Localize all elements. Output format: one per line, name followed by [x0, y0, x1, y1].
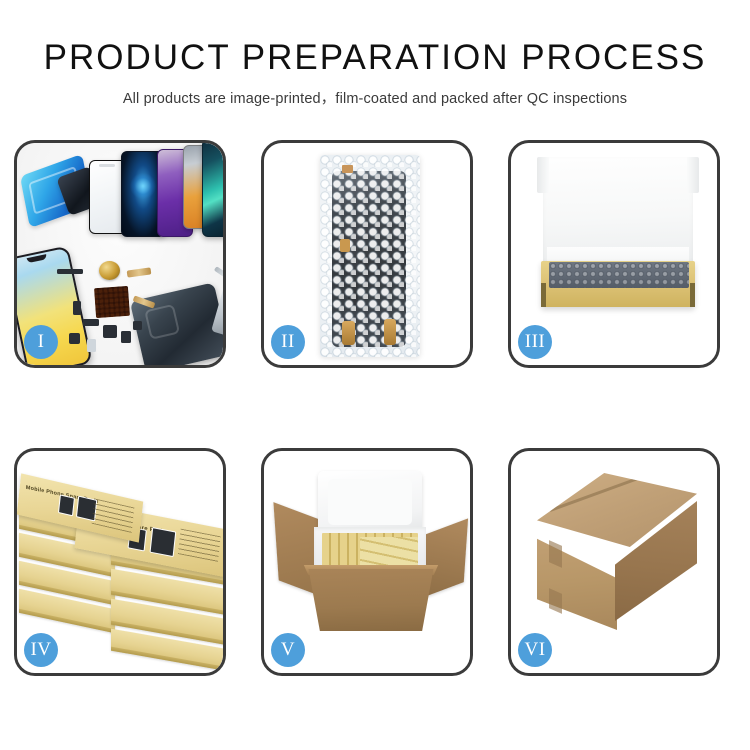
step-badge-5: V	[271, 633, 305, 667]
panel-step-6: VI	[508, 448, 720, 676]
header: PRODUCT PREPARATION PROCESS All products…	[0, 0, 750, 108]
tape-mid-icon	[340, 239, 350, 252]
component-small-6-icon	[87, 339, 96, 352]
retail-box-spec-lines-back	[92, 498, 135, 533]
step-badge-6: VI	[518, 633, 552, 667]
component-small-5-icon	[121, 331, 131, 343]
box-corner-right-icon	[690, 283, 695, 307]
box-corner-left-icon	[541, 283, 546, 307]
step-badge-4: IV	[24, 633, 58, 667]
bubble-padding-icon	[549, 262, 689, 288]
process-steps-grid: I II	[14, 140, 720, 676]
tweezers-icon	[214, 266, 223, 285]
panel-step-4: Mobile Phone Spare Parts Mobile Phone Sp…	[14, 448, 226, 676]
phone-back-housing-icon	[130, 282, 223, 365]
connector-left-icon	[342, 321, 355, 345]
logic-board-icon	[94, 286, 130, 318]
box-stack: Mobile Phone Spare Parts Mobile Phone Sp…	[19, 471, 223, 661]
step-badge-2: II	[271, 325, 305, 359]
product-preparation-infographic: PRODUCT PREPARATION PROCESS All products…	[0, 0, 750, 750]
connector-right-icon	[384, 319, 396, 345]
panel-step-3: III	[508, 140, 720, 368]
component-small-4-icon	[103, 325, 117, 338]
page-subtitle: All products are image-printed，film-coat…	[0, 87, 750, 108]
step-badge-1: I	[24, 325, 58, 359]
component-small-2-icon	[83, 319, 99, 326]
yellow-boxes-row-2-icon	[360, 537, 418, 569]
retail-box-window-back-1	[58, 494, 75, 516]
retail-box-window-front-2	[150, 527, 177, 557]
carton-body-icon	[300, 569, 442, 631]
component-bar-icon	[57, 269, 83, 274]
foam-lid-open-icon	[318, 471, 422, 535]
tape-top-icon	[342, 165, 353, 173]
sealed-carton-icon	[525, 473, 709, 645]
page-title: PRODUCT PREPARATION PROCESS	[0, 38, 750, 78]
component-small-3-icon	[69, 333, 80, 344]
flex-cable-1-icon	[127, 267, 152, 277]
bubble-texture-overlay-icon	[320, 155, 420, 357]
retail-box-spec-lines-front	[178, 529, 221, 562]
bubble-bag-icon	[320, 155, 420, 357]
component-small-1-icon	[73, 301, 81, 315]
panel-step-2: II	[261, 140, 473, 368]
panel-step-5: V	[261, 448, 473, 676]
phone-teal-icon	[202, 143, 223, 237]
panel-step-1: I	[14, 140, 226, 368]
speaker-component-icon	[99, 261, 120, 280]
component-small-7-icon	[133, 321, 142, 330]
step-badge-3: III	[518, 325, 552, 359]
